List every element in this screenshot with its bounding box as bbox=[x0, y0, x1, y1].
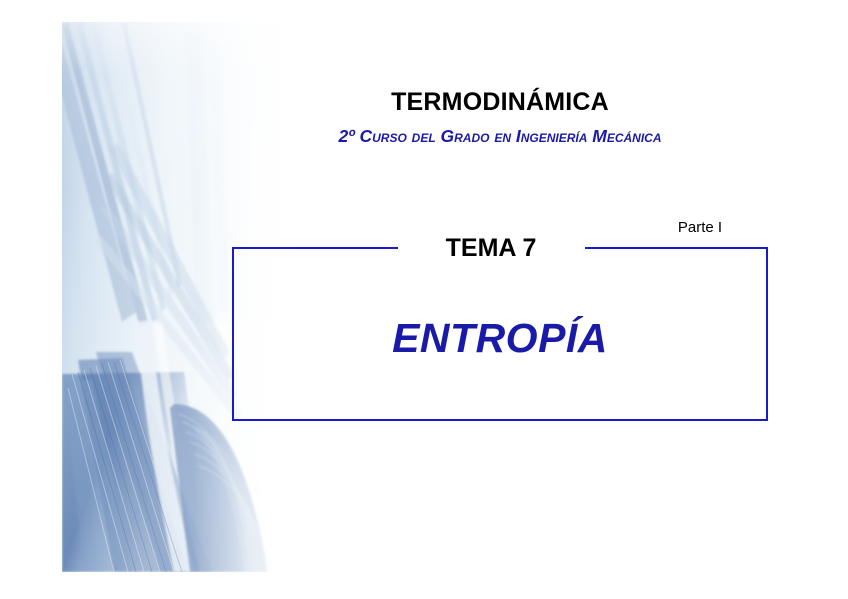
topic-title: ENTROPÍA bbox=[232, 315, 768, 362]
part-number-label: Parte I bbox=[640, 219, 760, 236]
page-title: TERMODINÁMICA bbox=[300, 88, 700, 117]
frame-top-left-segment bbox=[232, 247, 398, 249]
unit-number-label: TEMA 7 bbox=[398, 234, 584, 263]
frame-top-right-segment bbox=[585, 247, 768, 249]
course-subtitle: 2º Curso del Grado en Ingeniería Mecánic… bbox=[240, 126, 760, 147]
frame-bottom-edge bbox=[232, 419, 768, 421]
slide-canvas: TERMODINÁMICA 2º Curso del Grado en Inge… bbox=[0, 0, 848, 599]
